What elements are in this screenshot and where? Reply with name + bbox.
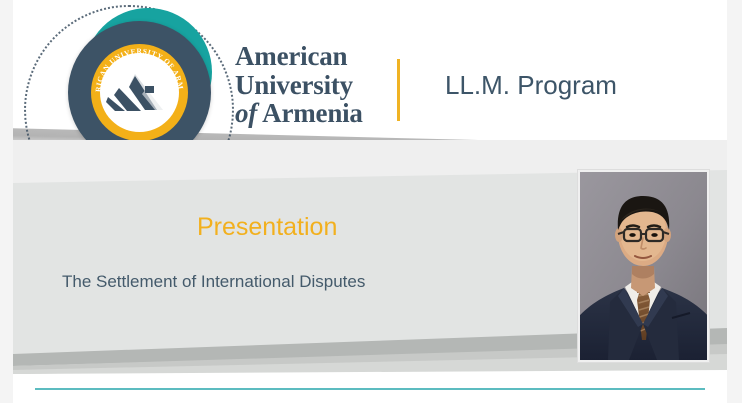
university-wordmark: American University of Armenia bbox=[235, 42, 395, 128]
mountain-peaks-icon bbox=[105, 70, 175, 114]
presentation-title: Presentation bbox=[197, 213, 337, 242]
gold-vertical-divider bbox=[397, 59, 400, 121]
wordmark-armenia: Armenia bbox=[262, 98, 363, 128]
wordmark-line-1: American bbox=[235, 42, 395, 71]
program-title: LL.M. Program bbox=[445, 70, 617, 101]
screenshot-viewport: AMERICAN UNIVERSITY OF ARMENIA ՀԱՅԱՍՏԱՆԻ… bbox=[0, 0, 742, 403]
presenter-photo-frame bbox=[578, 170, 709, 362]
wordmark-line-2: University bbox=[235, 71, 395, 100]
presenter-portrait-illustration bbox=[580, 172, 707, 360]
wordmark-of: of bbox=[235, 98, 257, 128]
presentation-subtitle: The Settlement of International Disputes bbox=[62, 272, 365, 292]
wordmark-line-3: of Armenia bbox=[235, 99, 395, 128]
presentation-slide: AMERICAN UNIVERSITY OF ARMENIA ՀԱՅԱՍՏԱՆԻ… bbox=[13, 0, 727, 403]
bottom-teal-rule bbox=[35, 388, 705, 390]
presenter-photo bbox=[580, 172, 707, 360]
